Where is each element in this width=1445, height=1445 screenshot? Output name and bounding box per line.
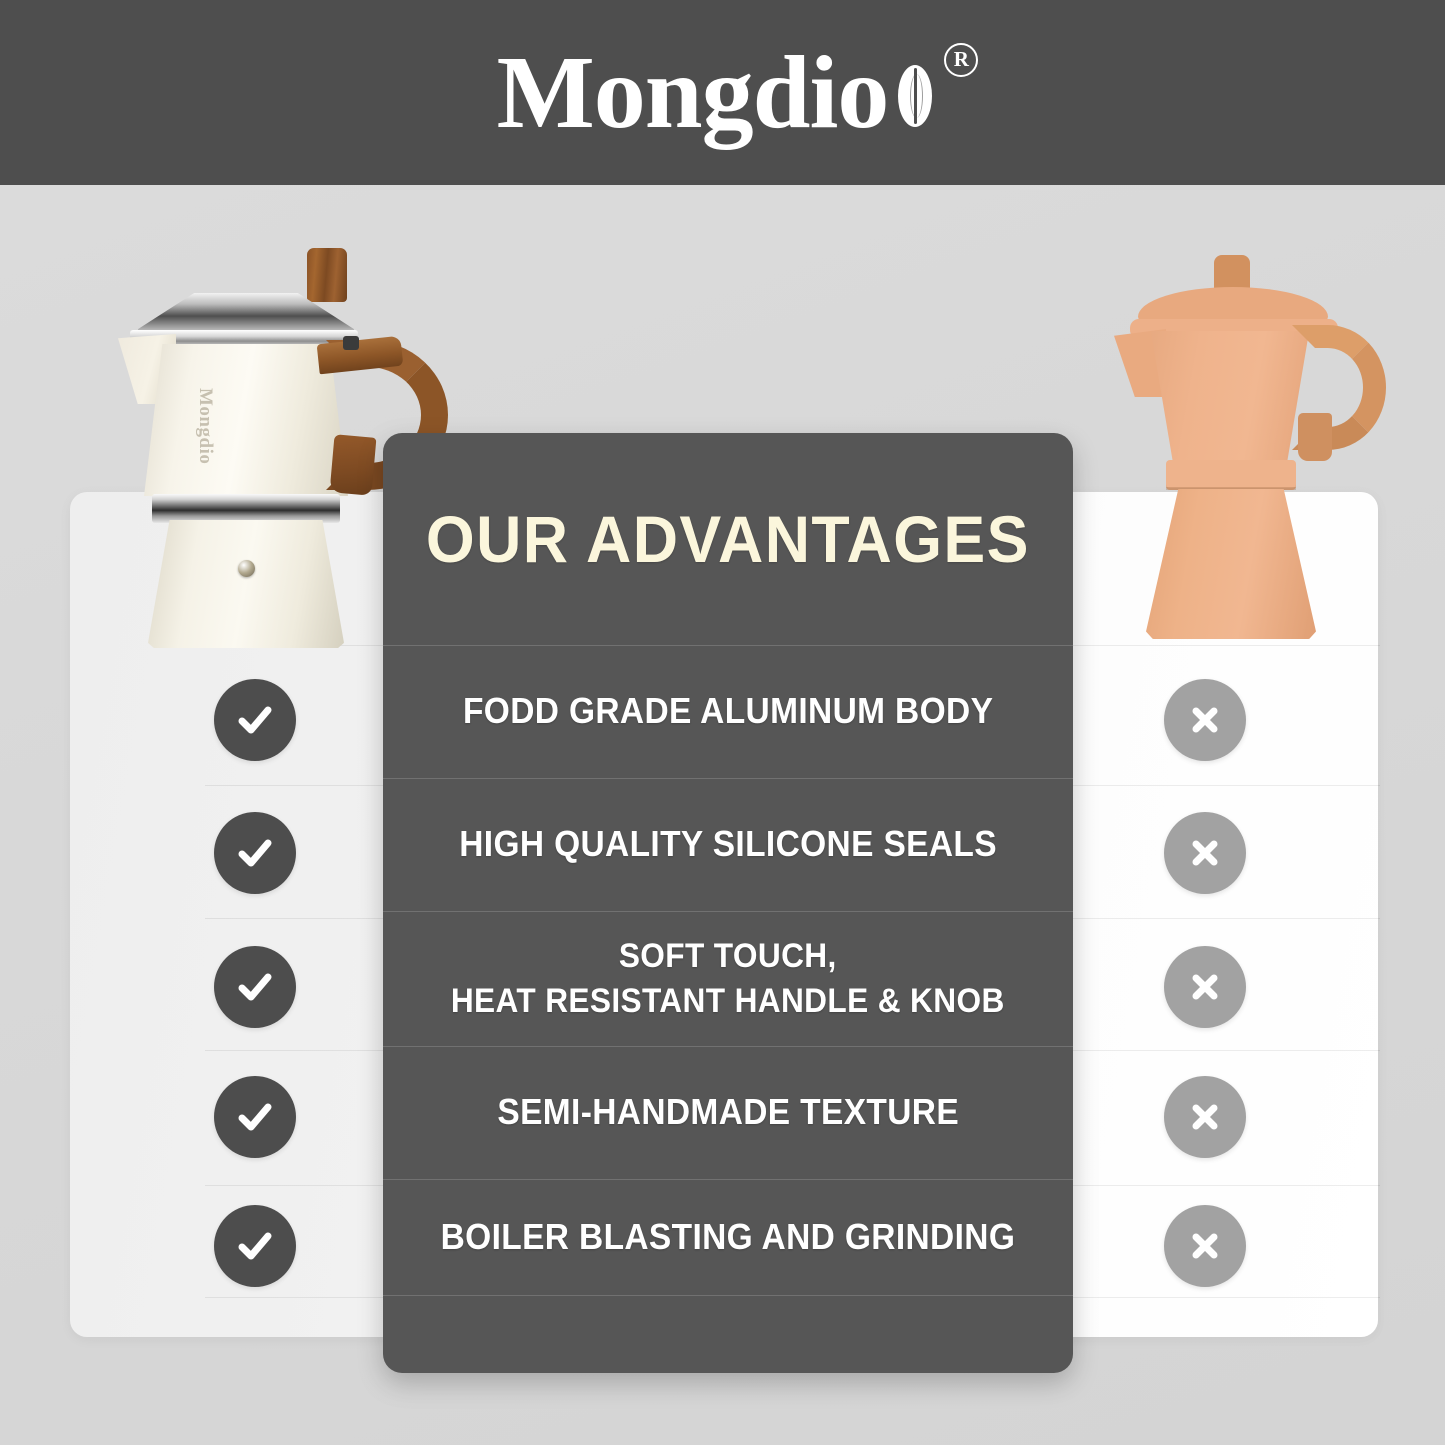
status-cell-theirs-5: [1145, 1186, 1265, 1306]
brand-name: Mongdio: [497, 41, 889, 145]
status-cell-theirs-3: [1145, 927, 1265, 1047]
advantages-divider: [383, 1295, 1073, 1296]
advantage-row-4: SEMI-HANDMADE TEXTURE: [383, 1046, 1073, 1179]
lower-boiler: [148, 520, 344, 648]
advantage-label: FODD GRADE ALUMINUM BODY: [463, 688, 993, 735]
advantage-label: BOILER BLASTING AND GRINDING: [441, 1214, 1016, 1261]
coffee-bean-icon: [898, 65, 932, 127]
cross-icon: [1164, 679, 1246, 761]
handle-hinge: [343, 336, 359, 350]
check-icon: [214, 1076, 296, 1158]
competitor-product-image: [1106, 255, 1396, 640]
lower-boiler: [1146, 489, 1316, 639]
brand-lockup: Mongdio R: [497, 41, 933, 145]
upper-chamber: [144, 344, 348, 496]
status-cell-theirs-4: [1145, 1057, 1265, 1177]
advantage-label: SOFT TOUCH, HEAT RESISTANT HANDLE & KNOB: [451, 934, 1005, 1022]
check-icon: [214, 679, 296, 761]
chrome-band: [152, 494, 340, 523]
brand-header-bar: Mongdio R: [0, 0, 1445, 185]
cross-icon: [1164, 1205, 1246, 1287]
advantage-row-1: FODD GRADE ALUMINUM BODY: [383, 645, 1073, 778]
cross-icon: [1164, 946, 1246, 1028]
cross-icon: [1164, 812, 1246, 894]
product-comparison-infographic: Mongdio R Mongdio: [0, 0, 1445, 1445]
handle-lower-arm: [1298, 413, 1332, 461]
status-cell-ours-4: [195, 1057, 315, 1177]
advantages-panel: OUR ADVANTAGES FODD GRADE ALUMINUM BODY …: [383, 433, 1073, 1373]
embossed-brand-logo: Mongdio: [194, 388, 216, 464]
center-band: [1166, 460, 1296, 490]
status-cell-ours-1: [195, 660, 315, 780]
page-title: OUR ADVANTAGES: [426, 501, 1030, 577]
advantage-label: HIGH QUALITY SILICONE SEALS: [459, 821, 997, 868]
check-icon: [214, 812, 296, 894]
advantage-label: SEMI-HANDMADE TEXTURE: [497, 1089, 959, 1136]
advantage-row-2: HIGH QUALITY SILICONE SEALS: [383, 778, 1073, 911]
safety-valve: [238, 560, 255, 577]
check-icon: [214, 946, 296, 1028]
registered-trademark-icon: R: [944, 43, 978, 77]
cross-icon: [1164, 1076, 1246, 1158]
advantage-row-5: BOILER BLASTING AND GRINDING: [383, 1179, 1073, 1295]
advantages-title-zone: OUR ADVANTAGES: [383, 433, 1073, 645]
status-cell-theirs-2: [1145, 793, 1265, 913]
status-cell-ours-2: [195, 793, 315, 913]
handle-lower-arm: [330, 434, 377, 495]
lid-knob: [307, 248, 347, 302]
advantage-row-3: SOFT TOUCH, HEAT RESISTANT HANDLE & KNOB: [383, 911, 1073, 1046]
status-cell-ours-5: [195, 1186, 315, 1306]
status-cell-ours-3: [195, 927, 315, 1047]
check-icon: [214, 1205, 296, 1287]
status-cell-theirs-1: [1145, 660, 1265, 780]
